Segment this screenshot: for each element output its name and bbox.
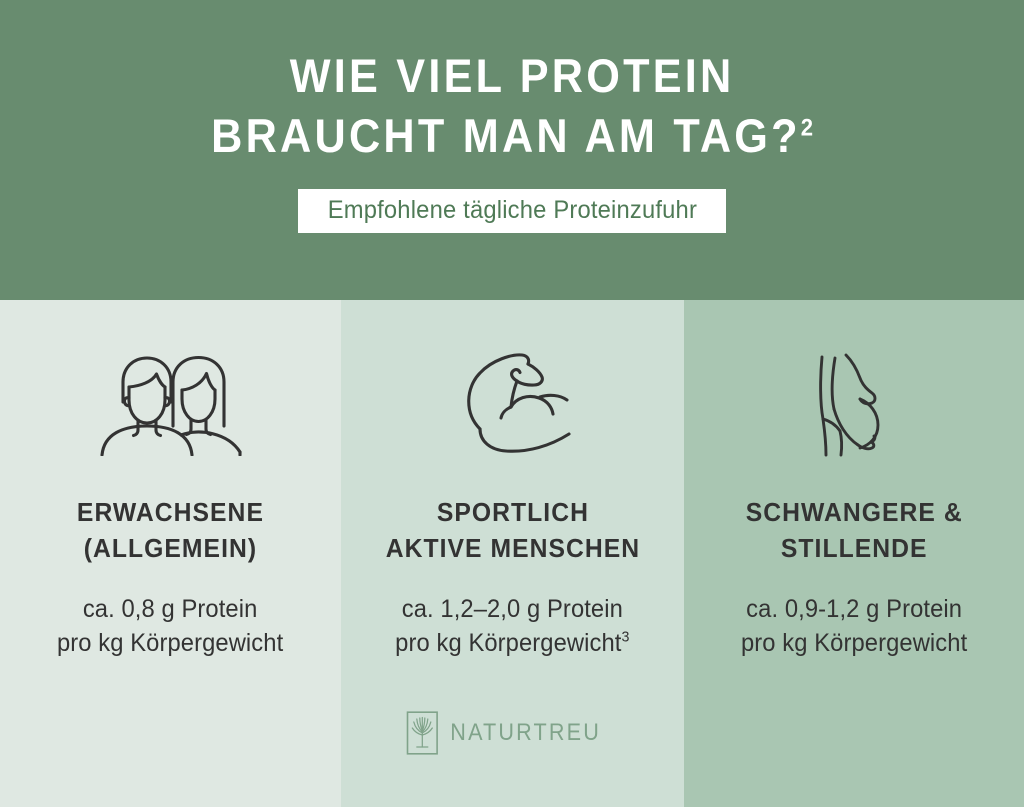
body-line-1: ca. 0,9-1,2 g Protein (746, 595, 962, 623)
page-title-footnote-marker: 2 (801, 114, 813, 141)
flexed-biceps-icon (450, 348, 576, 460)
column-heading-adults: ERWACHSENE (ALLGEMEIN) (77, 494, 264, 566)
heading-line-1: SPORTLICH (436, 497, 588, 527)
column-heading-pregnant-nursing: SCHWANGERE & STILLENDE (745, 494, 962, 566)
body-footnote-marker: 3 (622, 629, 630, 646)
page-title: WIE VIEL PROTEIN BRAUCHT MAN AM TAG?2 (211, 46, 813, 166)
column-adults: ERWACHSENE (ALLGEMEIN) ca. 0,8 g Protein… (0, 300, 341, 807)
heading-line-1: ERWACHSENE (77, 497, 264, 527)
column-body-adults: ca. 0,8 g Protein pro kg Körpergewicht (57, 592, 283, 660)
body-line-2: pro kg Körpergewicht (395, 629, 621, 657)
column-body-pregnant-nursing: ca. 0,9-1,2 g Protein pro kg Körpergewic… (741, 592, 967, 660)
page-title-line-1: WIE VIEL PROTEIN (211, 46, 813, 106)
naturtreu-logo: NATURTREU (406, 711, 617, 755)
protein-infographic: WIE VIEL PROTEIN BRAUCHT MAN AM TAG?2 Em… (0, 0, 1024, 807)
pregnant-woman-icon (808, 348, 900, 460)
column-heading-athletes: SPORTLICH AKTIVE MENSCHEN (385, 494, 639, 566)
body-line-1: ca. 1,2–2,0 g Protein (402, 595, 623, 623)
heading-line-2: (ALLGEMEIN) (84, 533, 257, 563)
heading-line-1: SCHWANGERE & (745, 497, 962, 527)
header-banner: WIE VIEL PROTEIN BRAUCHT MAN AM TAG?2 Em… (0, 0, 1024, 300)
column-body-athletes: ca. 1,2–2,0 g Protein pro kg Körpergewic… (395, 592, 629, 660)
two-people-icon (88, 348, 254, 460)
heading-line-2: STILLENDE (781, 533, 928, 563)
heading-line-2: AKTIVE MENSCHEN (385, 533, 639, 563)
logo-wordmark: NATURTREU (450, 719, 601, 747)
page-title-line-2: BRAUCHT MAN AM TAG?2 (211, 106, 813, 166)
body-line-1: ca. 0,8 g Protein (83, 595, 258, 623)
page-title-line-2-text: BRAUCHT MAN AM TAG? (211, 109, 801, 162)
column-pregnant-nursing: SCHWANGERE & STILLENDE ca. 0,9-1,2 g Pro… (684, 300, 1024, 807)
subtitle-text: Empfohlene tägliche Proteinzufuhr (327, 196, 696, 224)
tree-in-frame-icon (406, 711, 438, 755)
body-line-2: pro kg Körpergewicht (741, 629, 967, 657)
body-line-2: pro kg Körpergewicht (57, 629, 283, 657)
subtitle-box: Empfohlene tägliche Proteinzufuhr (298, 189, 727, 233)
